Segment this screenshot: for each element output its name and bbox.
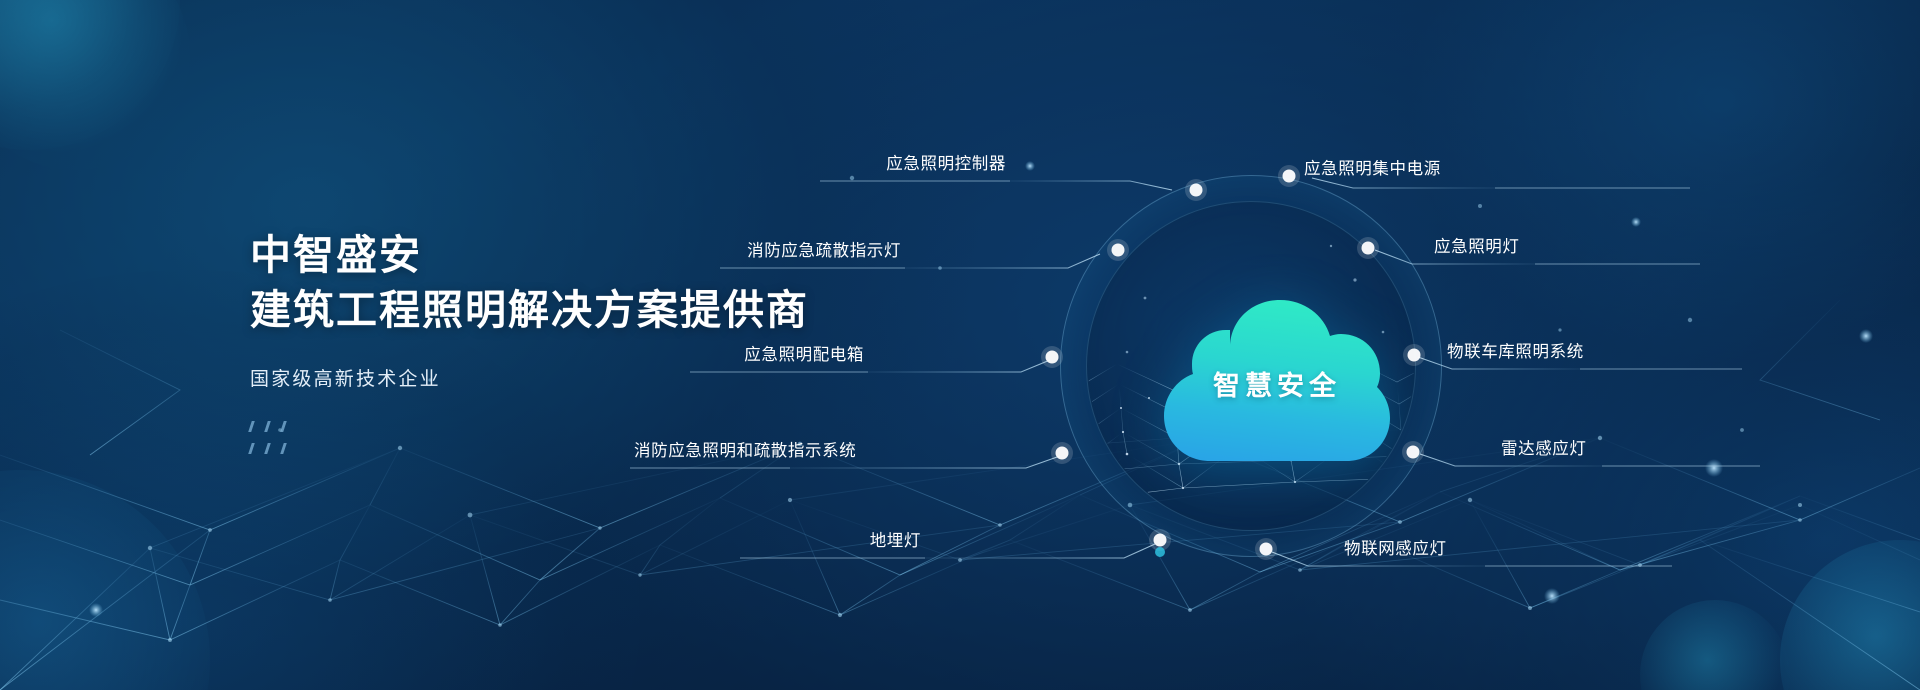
decorative-circle xyxy=(1780,540,1920,690)
callout-emergency-lighting-lamp[interactable]: 应急照明灯 xyxy=(1430,233,1524,262)
callout-fire-emergency-evacuation-system[interactable]: 消防应急照明和疏散指示系统 xyxy=(630,437,790,466)
hero-banner: 中智盛安 建筑工程照明解决方案提供商 国家级高新技术企业 xyxy=(0,0,1920,690)
decorative-circle xyxy=(0,0,180,150)
callout-iot-garage-lighting-system[interactable]: 物联车库照明系统 xyxy=(1443,338,1588,367)
decorative-circle xyxy=(1640,600,1790,690)
decorative-circle xyxy=(0,0,190,170)
cloud-badge: 智慧安全 xyxy=(1152,292,1402,467)
cloud-label-text: 智慧安全 xyxy=(1152,292,1402,467)
callout-label: 应急照明集中电源 xyxy=(1300,155,1445,184)
inner-ring: 智慧安全 xyxy=(1086,201,1416,531)
callout-label: 物联车库照明系统 xyxy=(1443,338,1588,367)
callout-emergency-lighting-controller[interactable]: 应急照明控制器 xyxy=(820,150,1010,179)
central-diagram: 智慧安全 xyxy=(1060,175,1440,555)
callout-label: 物联网感应灯 xyxy=(1340,535,1451,564)
callout-emergency-lighting-central-power[interactable]: 应急照明集中电源 xyxy=(1300,155,1445,184)
callout-label: 消防应急照明和疏散指示系统 xyxy=(630,437,790,466)
headline-line-1: 中智盛安 xyxy=(250,232,422,278)
callout-label: 应急照明配电箱 xyxy=(690,341,868,370)
callout-iot-sensor-light[interactable]: 物联网感应灯 xyxy=(1340,535,1451,564)
headline-line-2: 建筑工程照明解决方案提供商 xyxy=(250,283,809,338)
callout-label: 应急照明灯 xyxy=(1430,233,1524,262)
callout-fire-emergency-evacuation-sign-light[interactable]: 消防应急疏散指示灯 xyxy=(720,237,905,266)
callout-label: 应急照明控制器 xyxy=(820,150,1010,179)
callout-emergency-lighting-distribution-box[interactable]: 应急照明配电箱 xyxy=(690,341,868,370)
callout-buried-ground-light[interactable]: 地埋灯 xyxy=(740,527,925,556)
callout-label: 雷达感应灯 xyxy=(1497,435,1591,464)
decorative-slashes xyxy=(250,421,310,454)
callout-label: 消防应急疏散指示灯 xyxy=(720,237,905,266)
callout-radar-sensor-light[interactable]: 雷达感应灯 xyxy=(1497,435,1591,464)
decorative-circle xyxy=(0,470,210,690)
callout-label: 地埋灯 xyxy=(740,527,925,556)
